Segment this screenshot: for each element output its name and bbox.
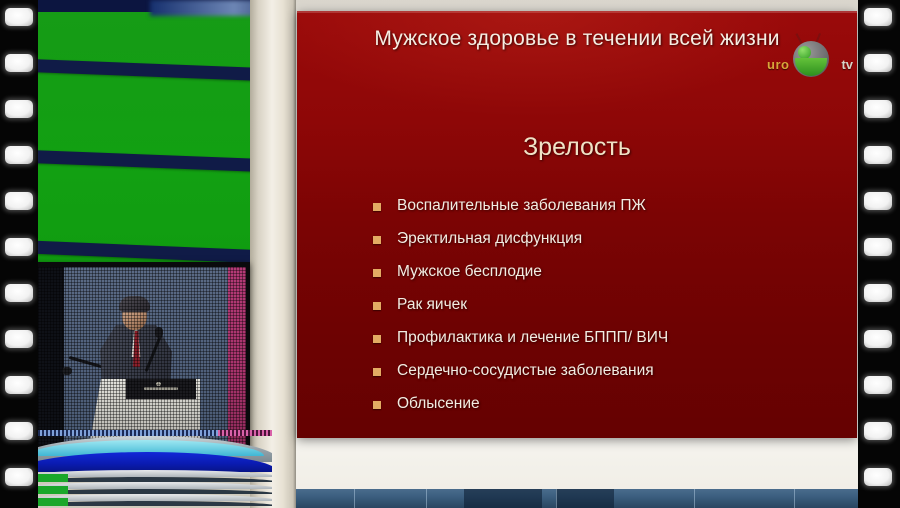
podium-plaque [126,379,196,399]
list-item-label: Воспалительные заболевания ПЖ [397,197,646,214]
bullet-square-icon [373,203,381,211]
logo-text-uro: uro [767,57,789,72]
speaker-body [100,325,172,403]
urotv-logo: uro tv [765,31,851,83]
list-item-label: Эректильная дисфункция [397,230,582,247]
film-perforation [5,8,33,26]
backdrop-highlight [150,0,254,16]
floor-seam [354,489,355,508]
film-perforation [5,330,33,348]
bullet-square-icon [373,302,381,310]
film-perforation [5,376,33,394]
floor-shadow [556,489,614,508]
film-perforation [5,192,33,210]
floor-shadow [464,489,542,508]
film-perforation [864,376,892,394]
backdrop-stripe [30,58,254,83]
floor-seam [556,489,557,508]
speaker-hair [119,296,150,312]
list-item-label: Облысение [397,395,480,412]
screen-color-bar [228,267,246,445]
floor-seam [694,489,695,508]
list-item: Сердечно-сосудистые заболевания [373,362,827,379]
video-frame: Мужское здоровье в течении всей жизни ur… [0,0,900,508]
film-perforation [5,54,33,72]
film-perforation [5,468,33,486]
studio-floor-band [294,489,864,508]
backdrop-stripe [30,149,254,174]
bullet-square-icon [373,335,381,343]
film-perforation [5,422,33,440]
film-perforation [864,238,892,256]
film-perforation [864,146,892,164]
list-item: Профилактика и лечение БППП/ ВИЧ [373,329,827,346]
film-perforation [864,284,892,302]
film-perforation [864,192,892,210]
list-item-label: Рак яичек [397,296,467,313]
studio-desk [22,430,272,508]
bullet-square-icon [373,368,381,376]
film-strip-left [0,0,38,508]
film-strip-right [858,0,900,508]
desk-led-strip-magenta [218,430,272,436]
presentation-slide: Мужское здоровье в течении всей жизни ur… [297,11,857,438]
microphone-boom-left [69,356,120,373]
speaker-tie [133,331,140,367]
bullet-square-icon [373,401,381,409]
film-perforation [5,238,33,256]
list-item: Облысение [373,395,827,412]
logo-text-tv: tv [841,57,853,72]
bullet-square-icon [373,269,381,277]
list-item: Мужское бесплодие [373,263,827,280]
film-perforation [864,330,892,348]
plaque-text-line [144,387,178,390]
floor-seam [794,489,795,508]
bullet-square-icon [373,236,381,244]
film-perforation [864,422,892,440]
speaker-shirt [128,327,144,357]
film-perforation [5,146,33,164]
list-item: Эректильная дисфункция [373,230,827,247]
slide-bullet-list: Воспалительные заболевания ПЖ Эректильна… [373,197,827,428]
microphone-boom-right [145,334,163,372]
speaker-video-monitor [34,262,250,452]
list-item-label: Мужское бесплодие [397,263,542,280]
list-item: Воспалительные заболевания ПЖ [373,197,827,214]
monitor-screen [38,267,246,445]
film-perforation [864,8,892,26]
plaque-emblem [156,382,161,386]
screen-left-shadow [38,267,64,445]
list-item: Рак яичек [373,296,827,313]
floor-seam [426,489,427,508]
film-perforation [864,468,892,486]
speaker-head [122,300,147,330]
list-item-label: Сердечно-сосудистые заболевания [397,362,654,379]
slide-subtitle: Зрелость [297,133,857,162]
film-perforation [5,100,33,118]
list-item-label: Профилактика и лечение БППП/ ВИЧ [397,329,668,346]
microphone-capsule-left [62,367,72,375]
logo-smile-icon [795,58,827,76]
logo-smiley-icon [793,41,829,77]
film-perforation [864,54,892,72]
film-perforation [5,284,33,302]
microphone-capsule-right [155,327,163,338]
film-perforation [864,100,892,118]
